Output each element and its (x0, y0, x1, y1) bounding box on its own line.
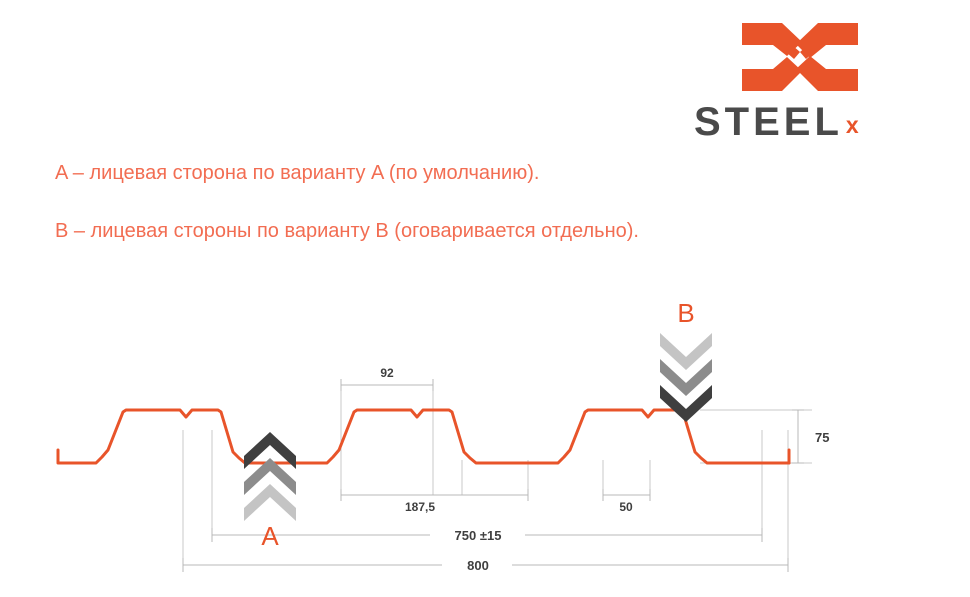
steelx-x-mark-icon (740, 18, 860, 96)
dimension-valley-width: 50 (603, 489, 650, 514)
corrugated-profile-drawing: 92 187,5 50 (0, 280, 970, 597)
dimension-pitch: 187,5 (341, 489, 528, 514)
steelx-wordmark-text: STEEL (694, 102, 843, 142)
profile-outline (58, 410, 789, 463)
dimension-label-pitch: 187,5 (405, 500, 435, 514)
marker-side-b-label: B (677, 298, 694, 328)
dimension-label-total-width: 800 (467, 558, 489, 573)
dimension-height: 75 (792, 410, 829, 463)
steelx-wordmark: STEEL x (694, 102, 944, 144)
marker-side-a-chevrons-icon (244, 432, 296, 521)
profile-drawing-page: STEEL x A – лицевая сторона по варианту … (0, 0, 970, 597)
steelx-wordmark-superscript: x (846, 114, 859, 137)
steelx-logo: STEEL x (694, 18, 944, 144)
legend-line-side-a: A – лицевая сторона по варианту A (по ум… (55, 160, 539, 186)
dimension-rib-top-width: 92 (341, 366, 433, 391)
dimension-label-valley-width: 50 (619, 500, 633, 514)
dimension-total-width: 800 (183, 558, 788, 573)
marker-side-a-label: A (261, 521, 279, 551)
marker-side-a: A (244, 432, 296, 551)
dimension-cover-width: 750 ±15 (212, 528, 762, 543)
dimension-label-height: 75 (815, 430, 829, 445)
marker-side-b: B (660, 298, 712, 422)
legend-line-side-b: B – лицевая стороны по варианту B (огова… (55, 218, 639, 244)
dimension-label-cover-width: 750 ±15 (455, 528, 502, 543)
dimension-label-rib-top-width: 92 (380, 366, 394, 380)
